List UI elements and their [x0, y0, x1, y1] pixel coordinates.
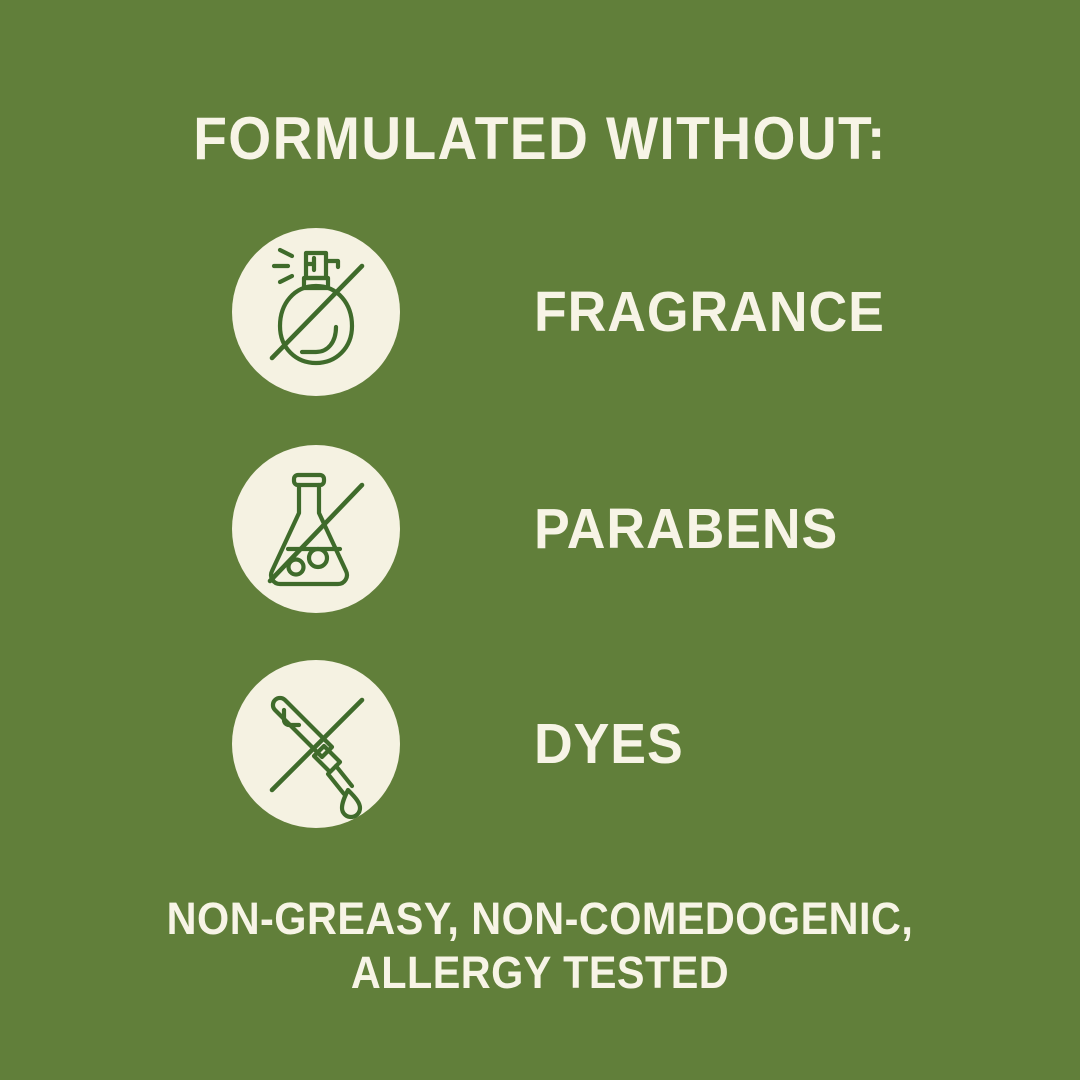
benefit-label-parabens: PARABENS	[534, 445, 838, 613]
footer-claims: NON-GREASY, NON-COMEDOGENIC, ALLERGY TES…	[0, 892, 1080, 1000]
benefit-label-fragrance: FRAGRANCE	[534, 228, 885, 396]
benefit-label-dyes: DYES	[534, 660, 684, 828]
no-fragrance-bottle-icon	[232, 228, 400, 396]
benefit-row-fragrance: FRAGRANCE	[0, 228, 1080, 398]
formulated-without-card: FORMULATED WITHOUT:	[0, 0, 1080, 1080]
benefit-row-dyes: DYES	[0, 660, 1080, 830]
page-title: FORMULATED WITHOUT:	[43, 108, 1037, 170]
benefit-row-parabens: PARABENS	[0, 445, 1080, 615]
no-dropper-icon	[232, 660, 400, 828]
footer-line-2: ALLERGY TESTED	[43, 946, 1037, 1000]
no-chemical-flask-icon	[232, 445, 400, 613]
footer-line-1: NON-GREASY, NON-COMEDOGENIC,	[43, 892, 1037, 946]
